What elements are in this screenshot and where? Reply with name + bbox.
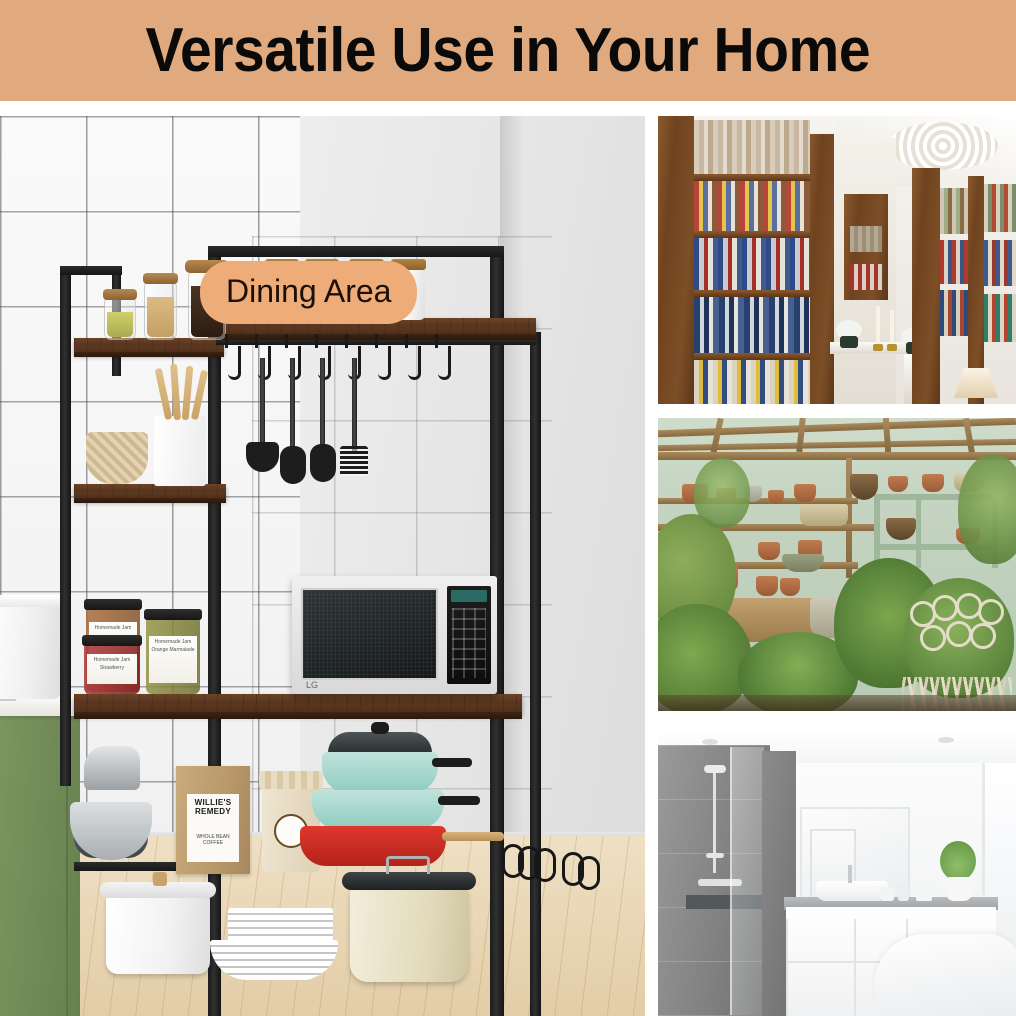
pot-handle (438, 796, 480, 805)
header-banner: Versatile Use in Your Home (0, 0, 1016, 101)
metal-shelf-post (874, 494, 880, 568)
microwave-control-panel (447, 586, 491, 684)
pan-wood-handle (442, 832, 504, 841)
shower-head (704, 765, 726, 773)
pot-handle (432, 758, 472, 767)
ceiling-medallion (888, 122, 998, 170)
side-hook-rail (502, 844, 612, 906)
soap-dispenser (880, 887, 894, 901)
mint-pot-medium (312, 790, 444, 830)
bookcase-frame (658, 116, 694, 404)
coffee-brand: WILLIE'S (187, 798, 239, 807)
label-dining-area: Dining Area (200, 261, 417, 324)
metal-garden-chair (902, 591, 1012, 711)
roof-purlin (658, 452, 1016, 460)
coffee-bag-label: WILLIE'S REMEDY WHOLE BEAN COFFEE (187, 794, 239, 862)
plate-stack (210, 940, 338, 980)
coffee-product: REMEDY (187, 807, 239, 816)
foliage (958, 454, 1016, 564)
rack-top-beam (208, 246, 504, 257)
cream-stockpot (350, 886, 468, 982)
microwave-door (301, 588, 438, 680)
rack-shelf-edge (74, 352, 224, 357)
microwave-oven: LG (292, 576, 497, 694)
microwave-brand-label: LG (306, 680, 318, 690)
stockpot-lid (342, 872, 476, 890)
utensil-crock (154, 416, 206, 486)
terracotta-pot (756, 576, 778, 596)
book-row (984, 184, 1016, 232)
book-row (984, 240, 1016, 286)
planter-trough (800, 504, 848, 526)
toiletry-bottle (898, 883, 909, 901)
swirl-hook (534, 848, 556, 882)
bookcase-frame (912, 168, 940, 404)
panel-greenhouse: Greenhouse (658, 418, 1016, 711)
ceiling-downlight (938, 737, 954, 743)
s-hook (378, 346, 391, 380)
shower-handset (706, 853, 724, 858)
rack-post (530, 332, 541, 1016)
s-hook (228, 346, 241, 380)
washbasin (816, 881, 888, 901)
book-row (984, 294, 1016, 342)
freestanding-bathtub (874, 934, 1016, 1016)
page-title: Versatile Use in Your Home (146, 20, 871, 82)
foliage (694, 458, 750, 528)
terracotta-pot (758, 542, 780, 560)
jam-jar-lid (144, 609, 202, 620)
shower-riser-rail (713, 773, 716, 873)
mixer-head (84, 746, 140, 790)
cabinet-seam (786, 919, 788, 1016)
infographic-page: Versatile Use in Your Home (0, 0, 1016, 1016)
book-row (694, 297, 810, 353)
s-hook (408, 346, 421, 380)
bathroom-window (982, 763, 1016, 895)
book-row (694, 120, 810, 174)
coffee-detail: WHOLE BEAN COFFEE (187, 834, 239, 846)
cabinet-seam (854, 919, 856, 1016)
jam-jar: Homemade JamStrawberry (84, 644, 140, 694)
basin-tap (848, 865, 852, 883)
microwave-display (451, 590, 487, 602)
bookshelf-board (694, 290, 810, 297)
candlestick (876, 306, 880, 344)
book-row (940, 240, 968, 284)
jam-jar-label: Homemade JamStrawberry (87, 654, 137, 684)
bookshelf-board (694, 353, 810, 360)
potted-plant (940, 841, 976, 881)
wooden-spoon (155, 368, 173, 420)
terracotta-pot (888, 476, 908, 492)
bookshelf-board (694, 174, 810, 181)
terracotta-pot (922, 474, 944, 492)
book-row (850, 264, 882, 290)
jar-lid (143, 273, 178, 284)
book-row (850, 226, 882, 252)
glass-jar (104, 298, 136, 340)
woven-basket (86, 432, 148, 484)
stockpot-handle (386, 856, 430, 874)
shallow-bowl-planter (782, 554, 824, 572)
microwave-keypad (452, 608, 486, 678)
jar-contents (147, 297, 174, 337)
terracotta-pot (794, 484, 816, 502)
flower-vase (840, 336, 858, 348)
jar-cloth-cover (259, 771, 323, 789)
greenhouse-floor (658, 695, 1016, 711)
jam-jar-label: Homemade JamOrange Marmalade (149, 636, 197, 683)
metal-shelf-post (916, 494, 921, 568)
jar-contents (107, 312, 133, 337)
terracotta-pot (780, 578, 800, 596)
rack-shelf-edge (74, 498, 226, 503)
rack-post (60, 266, 71, 786)
rack-main-shelf (74, 694, 522, 714)
jar-lid (103, 289, 137, 300)
shower-glass-screen (730, 747, 764, 1015)
swirl-hook (578, 856, 600, 890)
bookshelf-board (694, 231, 810, 238)
jam-jar-lid (84, 599, 142, 610)
small-vase (916, 881, 932, 901)
panel-dining-area: Homemade Jam Homemade JamStrawberry Home… (0, 116, 645, 1016)
s-hook (438, 346, 451, 380)
white-canister-on-counter (0, 603, 60, 699)
coffee-bag: WILLIE'S REMEDY WHOLE BEAN COFFEE (176, 766, 250, 874)
pot-knob (371, 722, 389, 734)
rack-beam (60, 266, 122, 275)
bakers-rack: Homemade Jam Homemade JamStrawberry Home… (60, 246, 560, 1016)
white-cooking-pot (106, 894, 210, 974)
plant-pot (946, 877, 972, 901)
rack-main-shelf-edge (74, 712, 522, 719)
book-row (694, 238, 810, 290)
glass-jar (144, 282, 177, 340)
mint-pot-large (322, 752, 438, 794)
book-row (940, 290, 968, 336)
candlestick (890, 310, 894, 344)
jam-jar: Homemade JamOrange Marmalade (146, 618, 200, 694)
jam-jar-lid (82, 635, 142, 646)
bookcase-frame (808, 134, 834, 404)
book-row (694, 181, 810, 231)
panel-bathroom: Bathroom (658, 729, 1016, 1016)
book-row (940, 188, 968, 234)
panel-study: Study (658, 116, 1016, 404)
pot-knob (153, 872, 167, 886)
book-row (694, 360, 810, 404)
wooden-spoon (170, 364, 181, 420)
wooden-spoon (191, 370, 208, 420)
